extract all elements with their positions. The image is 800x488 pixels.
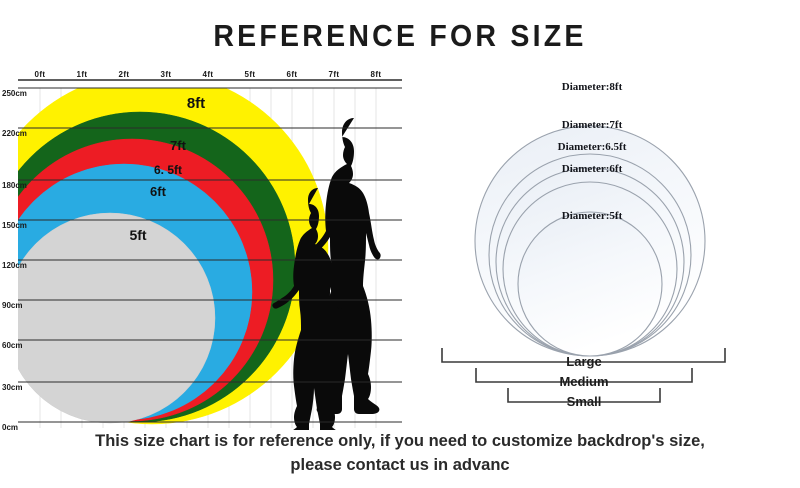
y-tick-90cm: 90cm: [2, 301, 22, 310]
bracket-label-medium: Medium: [559, 374, 608, 389]
x-tick-2: 2ft: [119, 70, 130, 79]
y-tick-150cm: 150cm: [2, 221, 27, 230]
diameter-comparison-panel: Diameter:8ft Diameter:7ft Diameter:6.5ft…: [420, 56, 800, 430]
ring-5ft: [5, 213, 215, 423]
ring-label-5ft: 5ft: [129, 227, 146, 243]
diameter-label-6-5ft: Diameter:6.5ft: [558, 141, 627, 153]
diameter-label-8ft: Diameter:8ft: [562, 81, 623, 93]
y-tick-250cm: 250cm: [2, 89, 27, 98]
y-tick-30cm: 30cm: [2, 383, 22, 392]
bracket-label-small: Small: [567, 394, 602, 409]
size-reference-chart: REFERENCE FOR SIZE: [0, 0, 800, 488]
y-tick-120cm: 120cm: [2, 261, 27, 270]
diameter-discs: [475, 126, 705, 356]
ring-label-8ft: 8ft: [187, 95, 205, 112]
diameter-label-5ft: Diameter:5ft: [562, 210, 623, 222]
x-tick-6: 6ft: [287, 70, 298, 79]
ring-label-6ft: 6ft: [150, 184, 167, 199]
disc-5ft: [518, 212, 662, 356]
bracket-labels: Large Medium Small: [559, 354, 608, 409]
disclaimer-caption: This size chart is for reference only, i…: [0, 430, 800, 478]
x-tick-1: 1ft: [77, 70, 88, 79]
diameter-label-6ft: Diameter:6ft: [562, 163, 623, 175]
bracket-label-large: Large: [566, 354, 601, 369]
x-tick-7: 7ft: [329, 70, 340, 79]
diameter-label-7ft: Diameter:7ft: [562, 119, 623, 131]
page-title: REFERENCE FOR SIZE: [32, 18, 768, 54]
y-tick-220cm: 220cm: [2, 129, 27, 138]
x-axis-tick-labels: 0ft 1ft 2ft 3ft 4ft 5ft 6ft 7ft 8ft: [35, 70, 382, 79]
x-tick-8: 8ft: [371, 70, 382, 79]
ring-label-6-5ft: 6. 5ft: [154, 163, 182, 177]
height-comparison-chart: 0ft 1ft 2ft 3ft 4ft 5ft 6ft 7ft 8ft 250c…: [0, 70, 420, 430]
x-tick-5: 5ft: [245, 70, 256, 79]
x-tick-3: 3ft: [161, 70, 172, 79]
ring-label-7ft: 7ft: [170, 138, 187, 153]
y-tick-0cm: 0cm: [2, 423, 18, 430]
caption-line-1: This size chart is for reference only, i…: [0, 430, 800, 454]
x-tick-0: 0ft: [35, 70, 46, 79]
y-tick-180cm: 180cm: [2, 181, 27, 190]
x-tick-4: 4ft: [203, 70, 214, 79]
caption-line-2: please contact us in advanc: [0, 454, 800, 478]
y-tick-60cm: 60cm: [2, 341, 22, 350]
